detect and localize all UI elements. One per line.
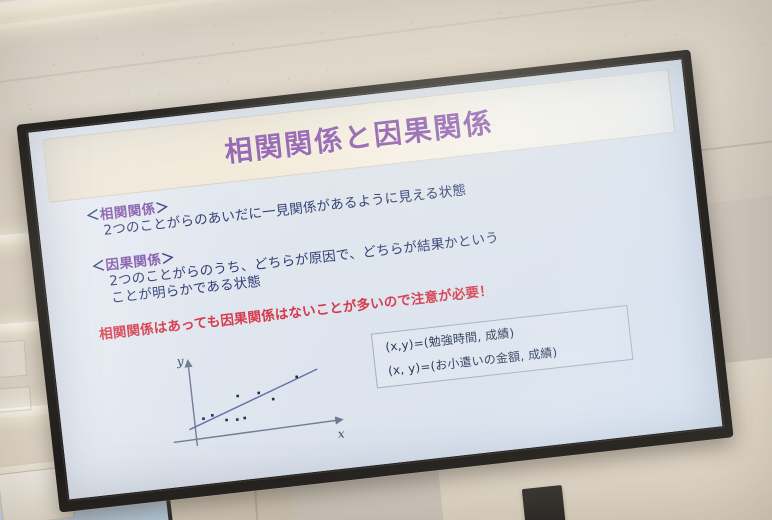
scatter-plot-svg: yx [152, 335, 352, 460]
ceiling-panel [0, 340, 27, 382]
display-screen[interactable]: 相関関係と因果関係 ＜相関関係＞ 2つのことがらのあいだに一見関係があるように見… [28, 59, 722, 499]
wall-mounted-display[interactable]: 相関関係と因果関係 ＜相関関係＞ 2つのことがらのあいだに一見関係があるように見… [16, 49, 733, 512]
bracket-close: ＞ [160, 250, 176, 267]
svg-text:x: x [337, 426, 346, 441]
slide-title: 相関関係と因果関係 [222, 101, 495, 171]
wall-speaker [522, 485, 566, 520]
formula-box: (x,y)=(勉強時間, 成績) (x, y)=(お小遣いの金額, 成績) [371, 305, 634, 389]
presentation-slide: 相関関係と因果関係 ＜相関関係＞ 2つのことがらのあいだに一見関係があるように見… [28, 59, 722, 499]
svg-text:y: y [175, 354, 185, 369]
bracket-close: ＞ [155, 199, 171, 216]
scatter-plot: yx [152, 335, 352, 460]
